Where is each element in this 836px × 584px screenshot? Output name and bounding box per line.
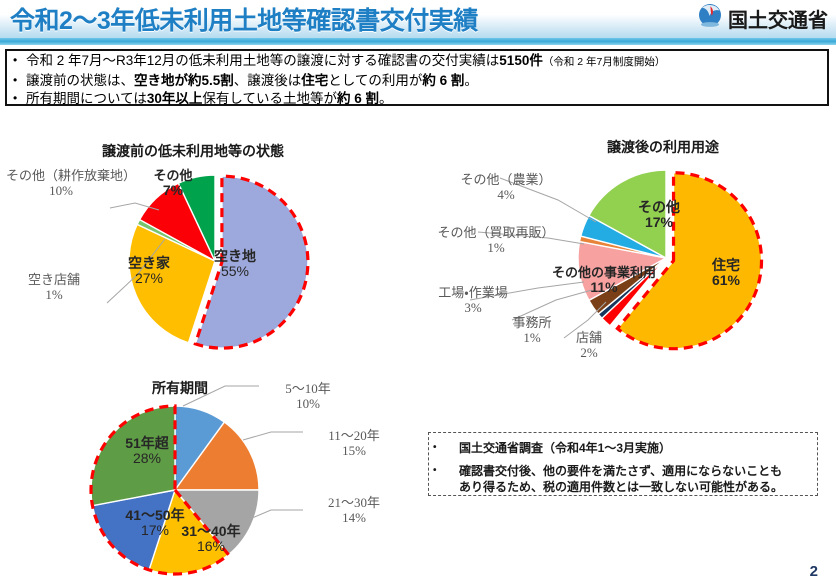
slice-label-11-20: 11～20年 15% xyxy=(304,428,404,458)
chart-title-holding-period: 所有期間 xyxy=(152,378,208,398)
footnote-line: • 確認書交付後、他の要件を満たさず、適用にならないこともあり得るため、税の適用… xyxy=(433,463,817,495)
slice-label-sonota-nogyo: その他（農業） 4% xyxy=(440,172,572,202)
footnote-marker: • xyxy=(433,463,459,479)
slice-label-21-30: 21～30年 14% xyxy=(304,495,404,525)
slice-label-tenpo: 店舗 2% xyxy=(562,330,616,360)
slice-label-jutaku: 住宅 61% xyxy=(694,258,758,288)
summary-bullet-text: 譲渡前の状態は、空き地が約5.5割、譲渡後は住宅としての利用が約 6 割。 xyxy=(26,72,478,89)
slice-label-kojo: 工場・作業場 3% xyxy=(412,285,534,315)
slice-label-jimusho: 事務所 1% xyxy=(498,315,566,345)
bullet-marker: • xyxy=(13,72,26,89)
slice-label-31-40: 31～40年 16% xyxy=(168,524,254,554)
chart-title-pre-transfer: 譲渡前の低未利用地等の状態 xyxy=(102,141,284,161)
footnote-marker: • xyxy=(433,440,459,456)
summary-bullet: • 所有期間については30年以上保有している土地等が約 6 割。 xyxy=(13,90,827,107)
footnote-text: 確認書交付後、他の要件を満たさず、適用にならないこともあり得るため、税の適用件数… xyxy=(459,463,789,495)
slice-label-akichi: 空き地 55% xyxy=(198,249,272,279)
leader-line xyxy=(243,432,303,440)
slice-label-sonota-jigyo: その他の事業利用 11% xyxy=(540,265,668,295)
ministry-swirl-logo-icon xyxy=(697,3,723,34)
slice-label-5-10: 5～10年 10% xyxy=(262,381,354,411)
summary-bullet: • 令和 2 年7月～R3年12月の低未利用土地等の譲渡に対する確認書の交付実績… xyxy=(13,52,827,71)
chart-title-post-transfer: 譲渡後の利用用途 xyxy=(607,137,719,157)
slice-label-sonota-kaitori: その他（買取再販） 1% xyxy=(416,225,576,255)
page-number: 2 xyxy=(810,563,818,580)
summary-bullet-text: 令和 2 年7月～R3年12月の低未利用土地等の譲渡に対する確認書の交付実績は5… xyxy=(26,52,665,71)
slice-label-akiya: 空き家 27% xyxy=(112,256,186,286)
summary-bullet-text: 所有期間については30年以上保有している土地等が約 6 割。 xyxy=(26,90,392,107)
summary-box: • 令和 2 年7月～R3年12月の低未利用土地等の譲渡に対する確認書の交付実績… xyxy=(5,49,829,106)
slice-label-sonota-kosaku: その他（耕作放棄地） 10% xyxy=(6,168,116,198)
bullet-marker: • xyxy=(13,90,26,107)
footnote-box: • 国土交通省調査（令和4年1～3月実施） • 確認書交付後、他の要件を満たさず… xyxy=(428,432,818,496)
footnote-line: • 国土交通省調査（令和4年1～3月実施） xyxy=(433,440,817,456)
ministry-logo: 国土交通省 xyxy=(697,4,828,32)
bullet-marker: • xyxy=(13,52,26,69)
slice-label-sonota2: その他 17% xyxy=(624,200,694,230)
slice-label-51over: 51年超 28% xyxy=(111,436,183,466)
pie-chart-holding-period xyxy=(75,398,275,583)
page-header: 令和2～3年低未利用土地等確認書交付実績 国土交通省 xyxy=(0,0,836,38)
ministry-name: 国土交通省 xyxy=(728,4,828,33)
slice-label-akitenpo: 空き店舗 1% xyxy=(2,272,106,302)
footnote-text: 国土交通省調査（令和4年1～3月実施） xyxy=(459,440,789,456)
summary-bullet: • 譲渡前の状態は、空き地が約5.5割、譲渡後は住宅としての利用が約 6 割。 xyxy=(13,72,827,89)
header-divider xyxy=(0,38,836,45)
slice-label-sonota: その他 7% xyxy=(140,168,206,198)
page-title: 令和2～3年低未利用土地等確認書交付実績 xyxy=(10,1,478,37)
